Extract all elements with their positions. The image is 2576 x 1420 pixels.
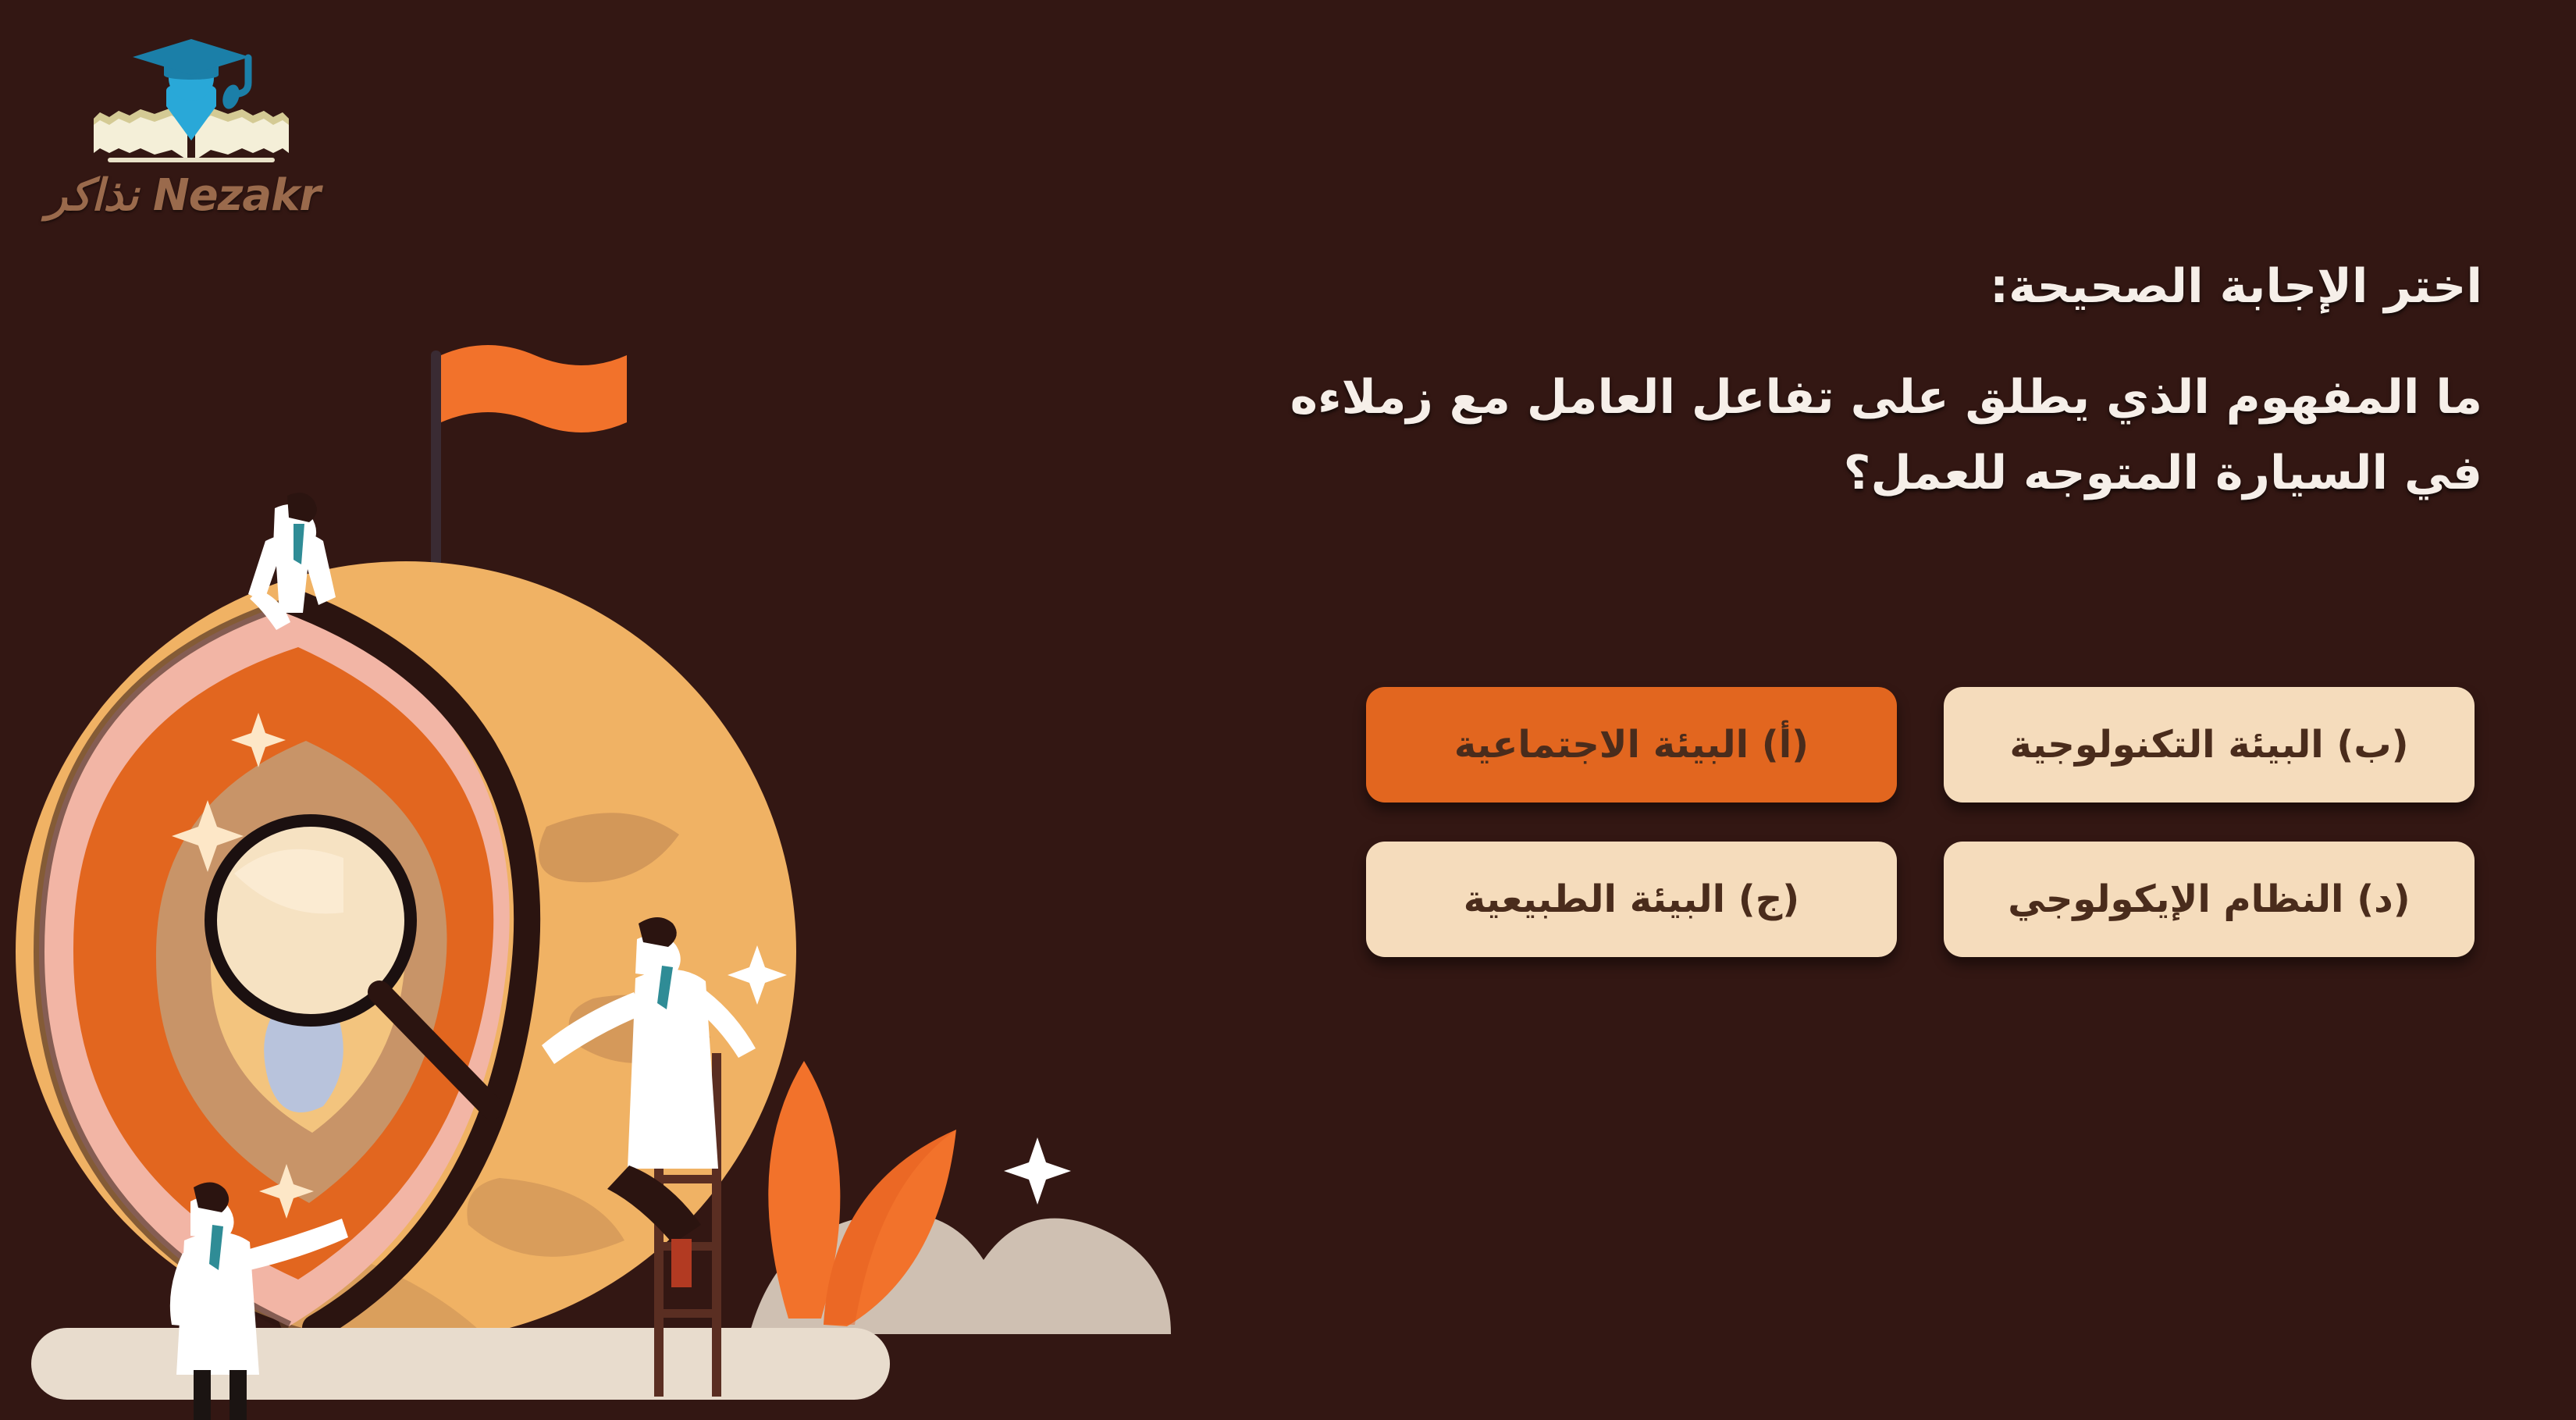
question-line-1: ما المفهوم الذي يطلق على تفاعل العامل مع… bbox=[999, 360, 2482, 436]
ground-platform bbox=[31, 1328, 890, 1400]
sparkle-star-5 bbox=[1004, 1137, 1071, 1205]
option-d[interactable]: (د) النظام الإيكولوجي bbox=[1944, 842, 2475, 957]
question-panel: اختر الإجابة الصحيحة: ما المفهوم الذي يط… bbox=[999, 258, 2482, 511]
option-a-selected[interactable]: (أ) البيئة الاجتماعية bbox=[1366, 687, 1897, 803]
brand-name-latin: Nezakr bbox=[153, 170, 320, 221]
option-b[interactable]: (ب) البيئة التكنولوجية bbox=[1944, 687, 2475, 803]
brand-logo: Nezakr نذاكر bbox=[62, 31, 320, 234]
leaf-tall-icon bbox=[768, 1061, 840, 1319]
answer-options: (ب) البيئة التكنولوجية (أ) البيئة الاجتم… bbox=[1304, 687, 2475, 957]
question-line-2: في السيارة المتوجه للعمل؟ bbox=[999, 436, 2482, 511]
brand-wordmark: Nezakr نذاكر bbox=[62, 170, 320, 221]
prompt-label: اختر الإجابة الصحيحة: bbox=[999, 258, 2482, 316]
quiz-slide: Nezakr نذاكر اختر الإجابة الصحيحة: ما ال… bbox=[0, 0, 2576, 1420]
question-text: ما المفهوم الذي يطلق على تفاعل العامل مع… bbox=[999, 360, 2482, 511]
graduation-cap-book-logo-icon bbox=[62, 31, 320, 180]
option-c[interactable]: (ج) البيئة الطبيعية bbox=[1366, 842, 1897, 957]
flag-icon bbox=[441, 345, 627, 432]
planet-cross-section-illustration bbox=[0, 327, 1218, 1420]
brand-name-arabic: نذاكر bbox=[46, 170, 138, 221]
